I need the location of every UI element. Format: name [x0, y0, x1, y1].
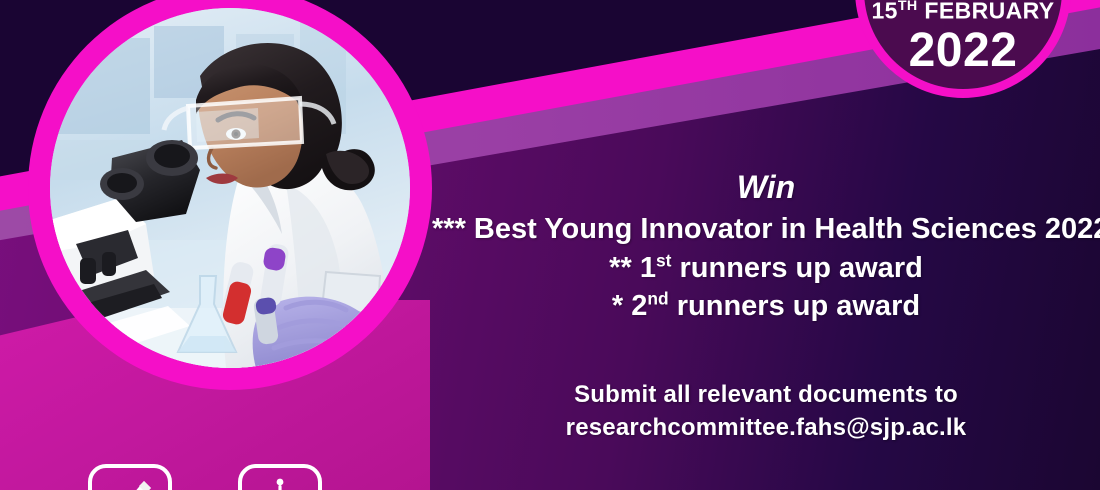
- award-line-first: *** Best Young Innovator in Health Scien…: [432, 210, 1100, 248]
- deadline-date: 15TH FEBRUARY: [871, 0, 1054, 23]
- caduceus-badge: [238, 464, 322, 490]
- submission-instruction: Submit all relevant documents to: [432, 378, 1100, 411]
- deadline-ordinal: TH: [898, 0, 918, 14]
- deadline-month: FEBRUARY: [924, 0, 1054, 24]
- award-line-second: ** 1st runners up award: [432, 249, 1100, 287]
- award-rank-third: 2: [631, 290, 647, 322]
- award-stars-third: *: [612, 290, 623, 322]
- award-line-third: * 2nd runners up award: [432, 287, 1100, 325]
- scientist-photo: [50, 8, 410, 368]
- submission-block: Submit all relevant documents to researc…: [432, 378, 1100, 444]
- award-text-first: Best Young Innovator in Health Sciences …: [474, 213, 1100, 245]
- deadline-day: 15: [871, 0, 897, 24]
- scalpel-badge: [88, 464, 172, 490]
- submission-email[interactable]: researchcommittee.fahs@sjp.ac.lk: [432, 411, 1100, 444]
- award-ordinal-second: st: [656, 250, 671, 270]
- awards-block: Win *** Best Young Innovator in Health S…: [432, 168, 1100, 325]
- caduceus-icon: [251, 477, 309, 490]
- award-ordinal-third: nd: [647, 288, 668, 308]
- scalpel-icon: [104, 477, 156, 490]
- award-stars-first: ***: [432, 213, 466, 245]
- awards-heading: Win: [432, 168, 1100, 206]
- scientist-photo-illustration: [50, 8, 410, 368]
- award-stars-second: **: [609, 252, 632, 284]
- award-text-second: runners up award: [679, 252, 922, 284]
- deadline-year: 2022: [909, 27, 1018, 75]
- poster-canvas: DEADLINE 15TH FEBRUARY 2022 Win *** Best…: [0, 0, 1100, 490]
- award-rank-second: 1: [640, 252, 656, 284]
- award-text-third: runners up award: [677, 290, 920, 322]
